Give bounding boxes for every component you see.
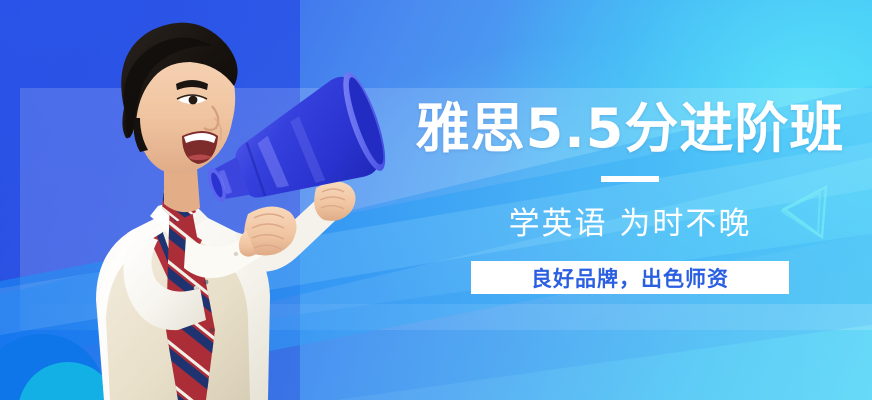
tagline-text: 良好品牌，出色师资 bbox=[531, 263, 729, 293]
banner-copy-block: 雅思5.5分进阶班 学英语 为时不晚 良好品牌，出色师资 bbox=[410, 100, 850, 294]
banner-subheadline: 学英语 为时不晚 bbox=[410, 198, 850, 243]
course-promo-banner: 雅思5.5分进阶班 学英语 为时不晚 良好品牌，出色师资 bbox=[0, 0, 872, 400]
divider-bar bbox=[601, 176, 659, 182]
tagline-box: 良好品牌，出色师资 bbox=[471, 261, 789, 294]
student-with-megaphone-illustration bbox=[0, 0, 430, 400]
banner-headline: 雅思5.5分进阶班 bbox=[410, 100, 850, 158]
